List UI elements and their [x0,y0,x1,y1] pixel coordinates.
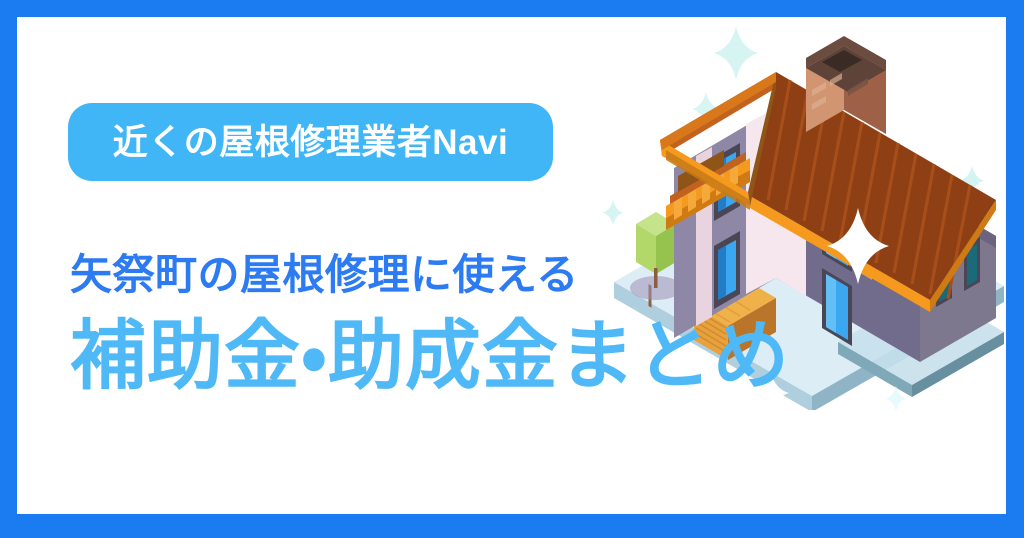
frame-border-left [0,0,17,538]
frame-border-bottom [0,514,1024,538]
frame-border-top [0,0,1024,17]
site-name-label: 近くの屋根修理業者Navi [113,125,508,160]
headline-block: 矢祭町の屋根修理に使える 補助金・助成金まとめ [70,250,790,399]
promo-banner: 近くの屋根修理業者Navi 矢祭町の屋根修理に使える 補助金・助成金まとめ [0,0,1024,538]
site-name-badge[interactable]: 近くの屋根修理業者Navi [68,103,553,181]
headline-subtitle: 矢祭町の屋根修理に使える [70,250,790,300]
frame-border-right [1006,0,1024,538]
headline-title: 補助金・助成金まとめ [70,314,790,399]
